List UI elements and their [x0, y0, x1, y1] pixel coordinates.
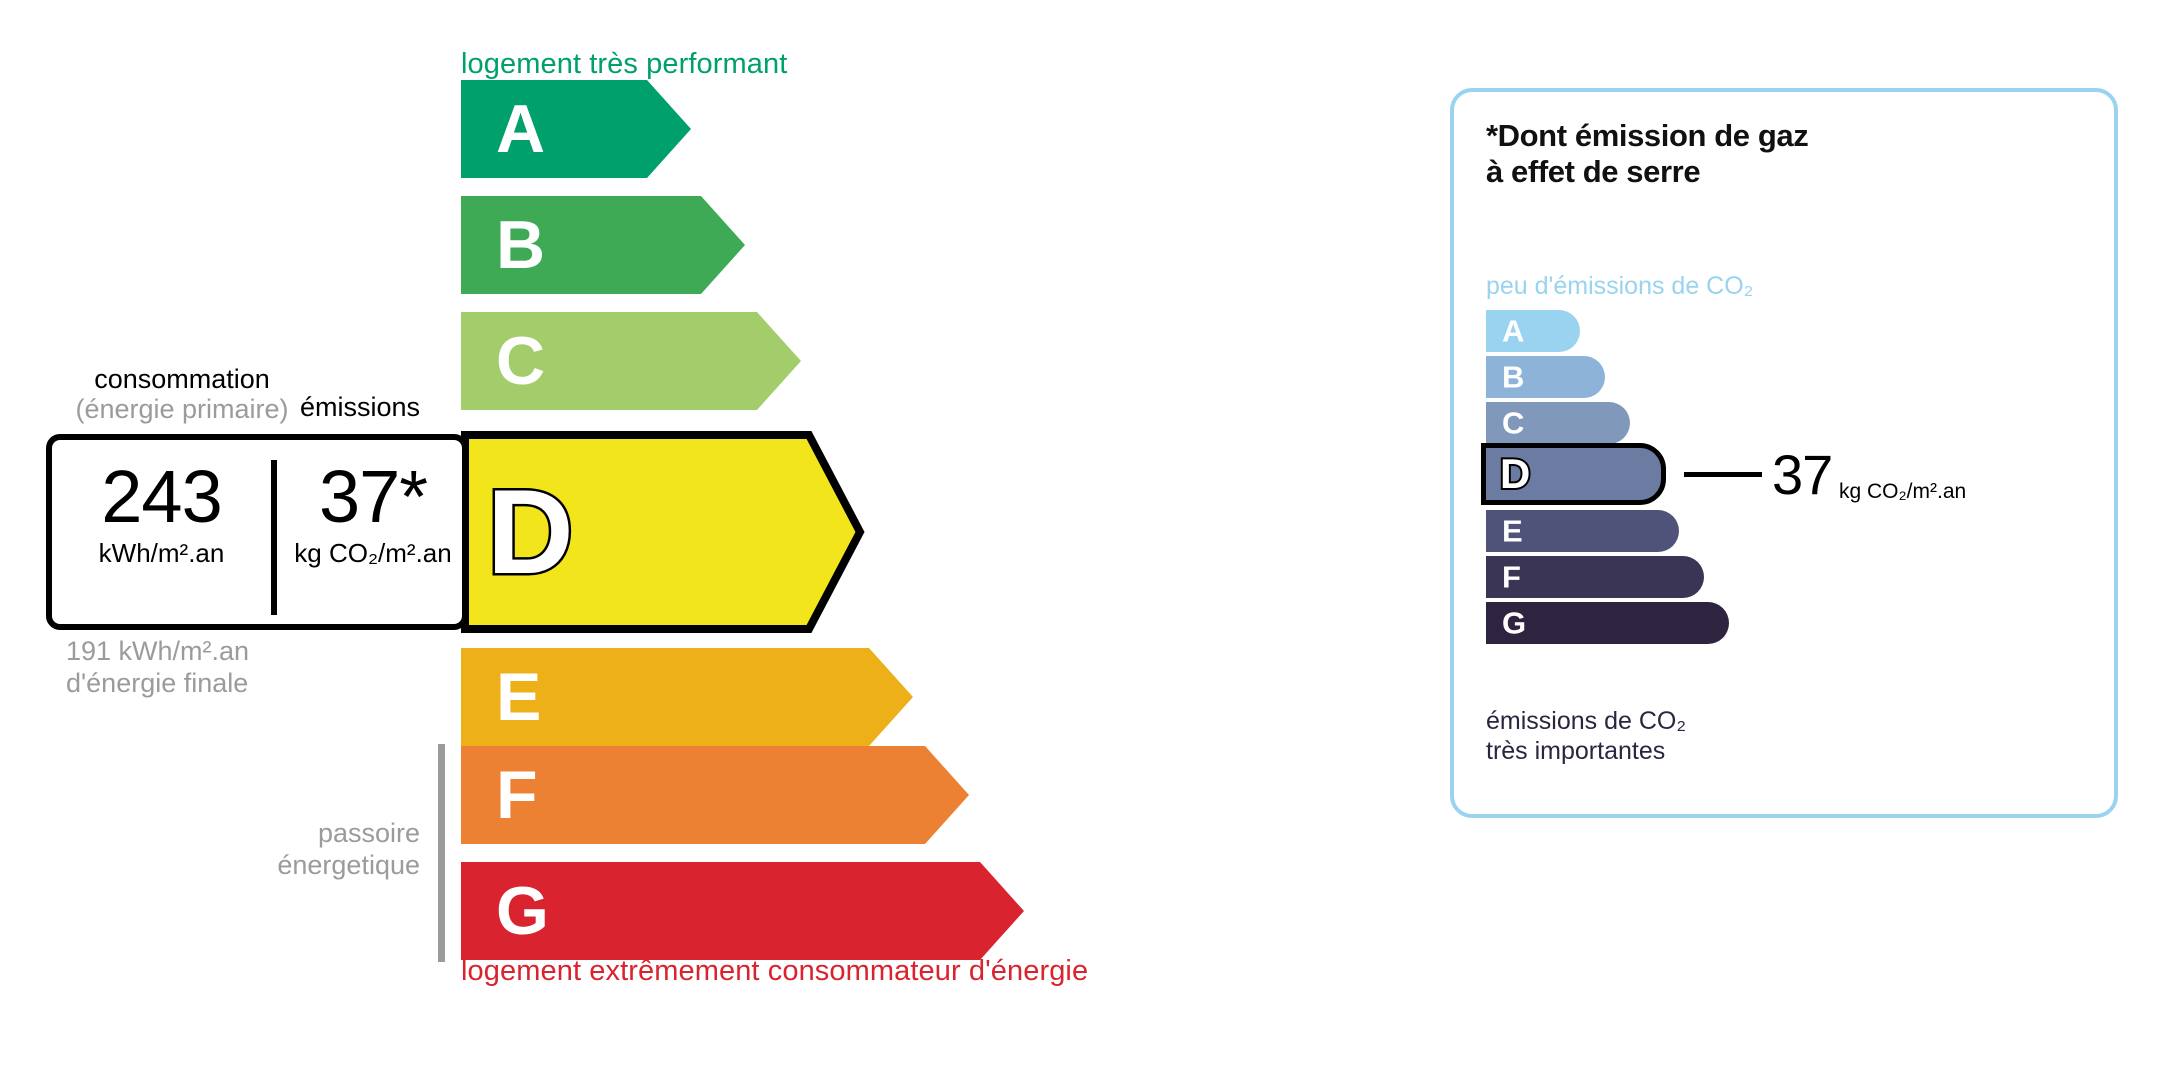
consumption-heading: consommation (énergie primaire) [62, 364, 302, 424]
ges-band-f-letter: F [1502, 562, 1521, 593]
energy-band-b[interactable]: B [461, 196, 745, 294]
ges-panel: *Dont émission de gaz à effet de serre p… [1450, 88, 2118, 818]
final-energy-line2: d'énergie finale [66, 668, 249, 700]
energy-band-a[interactable]: A [461, 80, 691, 178]
energy-band-e-letter: E [496, 663, 541, 731]
passoire-line2: énergetique [200, 850, 420, 882]
ges-band-b-letter: B [1502, 362, 1524, 393]
co2-emission-cell: 37* kg CO₂/m².an [277, 458, 469, 569]
ges-band-d-letter: D [1500, 453, 1530, 495]
ges-band-e[interactable]: E [1486, 510, 1679, 552]
energy-band-g[interactable]: G [461, 862, 1024, 960]
ges-band-c[interactable]: C [1486, 402, 1630, 444]
ges-band-f[interactable]: F [1486, 556, 1704, 598]
primary-energy-cell: 243 kWh/m².an [52, 458, 271, 569]
energy-band-g-letter: G [496, 877, 549, 945]
ges-band-e-letter: E [1502, 516, 1523, 547]
ges-panel-title: *Dont émission de gaz à effet de serre [1486, 118, 1808, 190]
energy-band-d-letter: D [487, 472, 574, 592]
consumption-heading-line1: consommation [62, 364, 302, 394]
ges-band-c-letter: C [1502, 408, 1524, 439]
co2-emission-unit: kg CO₂/m².an [277, 538, 469, 569]
ges-leader-line [1684, 472, 1762, 477]
ges-value-unit: kg CO₂/m².an [1839, 480, 1966, 504]
final-energy-line1: 191 kWh/m².an [66, 636, 249, 668]
ges-band-a-letter: A [1502, 316, 1524, 347]
energy-band-c[interactable]: C [461, 312, 801, 410]
scale-bottom-label: logement extrêmement consommateur d'éner… [461, 955, 1088, 988]
passoire-line1: passoire [200, 818, 420, 850]
emissions-heading: émissions [300, 392, 420, 423]
consumption-heading-line2: (énergie primaire) [62, 394, 302, 424]
energy-band-a-letter: A [496, 95, 545, 163]
energy-consumption-scale: logement très performant A B C [0, 0, 1400, 1079]
ges-bottom-label: émissions de CO₂ très importantes [1486, 707, 1686, 766]
primary-energy-value: 243 [52, 458, 271, 536]
final-energy-note: 191 kWh/m².an d'énergie finale [66, 636, 249, 700]
passoire-indicator-bar [438, 744, 445, 962]
ges-band-d-selected[interactable]: D [1481, 443, 1666, 505]
dpe-diagram: logement très performant A B C [0, 0, 2169, 1079]
ges-band-b[interactable]: B [1486, 356, 1605, 398]
ges-title-line1: *Dont émission de gaz [1486, 118, 1808, 154]
ges-bottom-line2: très importantes [1486, 737, 1686, 767]
ges-band-g[interactable]: G [1486, 602, 1729, 644]
ges-bottom-line1: émissions de CO₂ [1486, 707, 1686, 737]
ges-band-a[interactable]: A [1486, 310, 1580, 352]
energy-band-c-letter: C [496, 327, 545, 395]
ges-title-line2: à effet de serre [1486, 154, 1808, 190]
consumption-value-box: 243 kWh/m².an 37* kg CO₂/m².an [46, 434, 468, 630]
ges-band-g-letter: G [1502, 608, 1526, 639]
scale-top-label: logement très performant [461, 48, 787, 81]
energy-band-f[interactable]: F [461, 746, 969, 844]
primary-energy-unit: kWh/m².an [52, 538, 271, 569]
energy-band-e[interactable]: E [461, 648, 913, 746]
co2-emission-value: 37* [277, 458, 469, 536]
energy-band-f-letter: F [496, 761, 538, 829]
passoire-label: passoire énergetique [200, 818, 420, 882]
ges-value: 37 [1772, 447, 1832, 503]
energy-band-d-selected[interactable]: D [461, 431, 865, 633]
ges-top-label: peu d'émissions de CO₂ [1486, 272, 1753, 301]
energy-band-b-letter: B [496, 211, 545, 279]
